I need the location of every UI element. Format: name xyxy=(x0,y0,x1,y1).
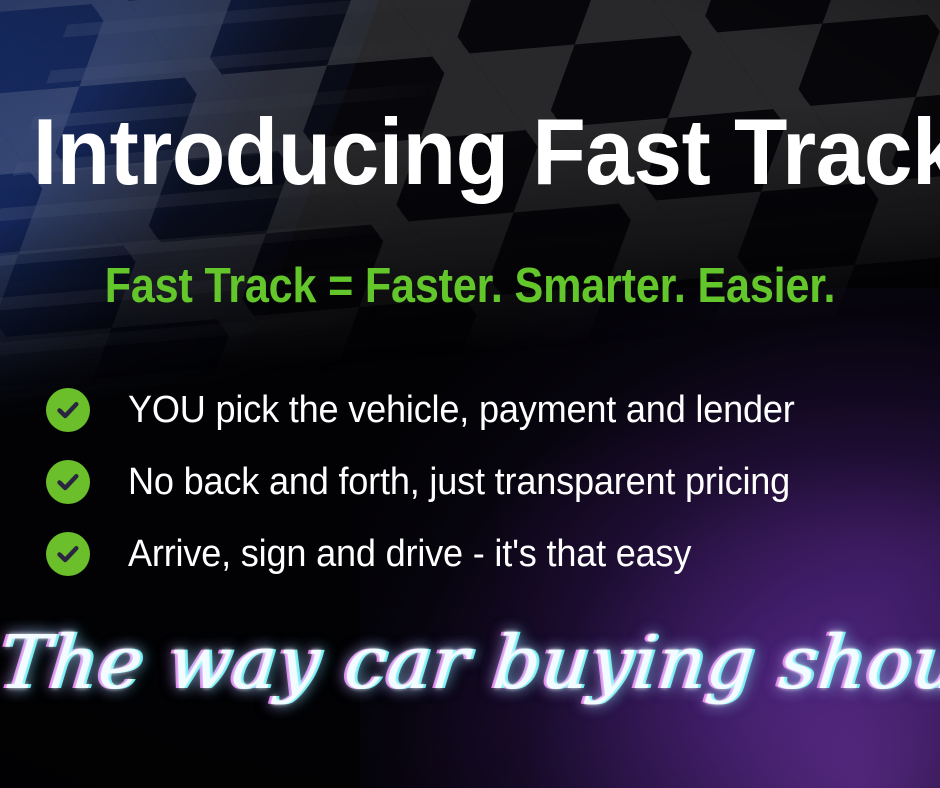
list-item-label: Arrive, sign and drive - it's that easy xyxy=(128,535,691,573)
script-tagline: The way car buying should be. The way ca… xyxy=(0,608,940,728)
list-item-label: YOU pick the vehicle, payment and lender xyxy=(128,391,795,429)
list-item: Arrive, sign and drive - it's that easy xyxy=(46,518,906,590)
poster-content: Introducing Fast Track Fast Track = Fast… xyxy=(0,0,940,788)
benefit-list: YOU pick the vehicle, payment and lender… xyxy=(46,374,906,590)
tagline-text: The way car buying should be. xyxy=(0,608,940,718)
page-title: Introducing Fast Track xyxy=(33,105,907,199)
check-circle-icon xyxy=(46,460,90,504)
check-circle-icon xyxy=(46,532,90,576)
list-item: YOU pick the vehicle, payment and lender xyxy=(46,374,906,446)
list-item-label: No back and forth, just transparent pric… xyxy=(128,463,790,501)
promo-poster: Introducing Fast Track Fast Track = Fast… xyxy=(0,0,940,788)
list-item: No back and forth, just transparent pric… xyxy=(46,446,906,518)
check-circle-icon xyxy=(46,388,90,432)
subtitle: Fast Track = Faster. Smarter. Easier. xyxy=(56,262,883,311)
